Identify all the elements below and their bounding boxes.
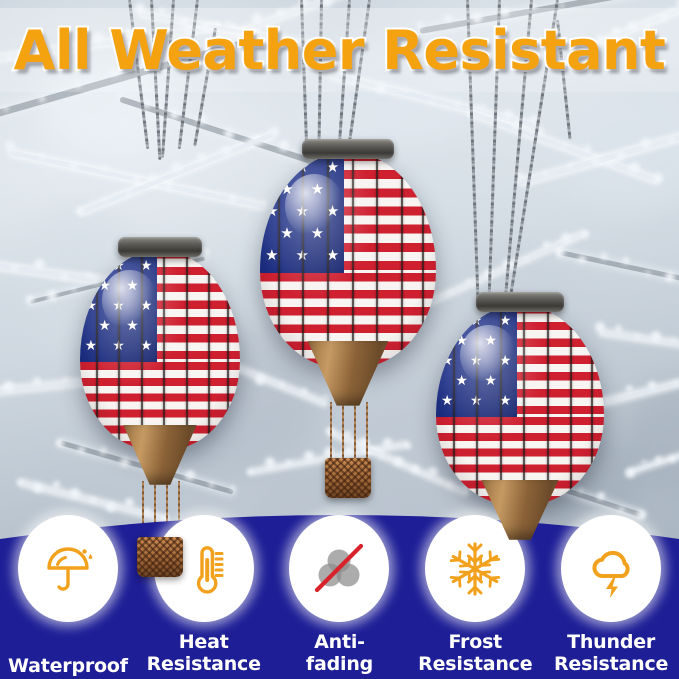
feature-icon-bubble: [289, 515, 389, 622]
cage-rib: [278, 152, 280, 368]
feature-label-line: Waterproof: [0, 655, 136, 677]
lantern-top-cap: [476, 292, 563, 312]
cage-rib: [401, 152, 403, 368]
cage-rib: [208, 250, 210, 450]
snowflake-icon: [446, 540, 504, 598]
thundercloud-icon: [583, 540, 639, 598]
feature-label-line: Anti-: [272, 631, 408, 653]
basket-chain: [330, 402, 332, 458]
feature-icon-bubble: [18, 515, 118, 622]
flag-globe: ★★★★★★★★★★★★★: [80, 250, 240, 450]
feature-label-line: Resistance: [136, 653, 272, 675]
feature-label-line: Frost: [407, 631, 543, 653]
product-feature-infographic: ★★★★★★★★★★★★★★★★★★★★★★★★★★★★★★★★★★★★★★★ …: [0, 0, 679, 679]
feature-item: ThunderResistance: [543, 509, 679, 679]
lantern-cone-base: [123, 425, 197, 485]
cage-rib: [352, 152, 354, 368]
cage-rib: [327, 152, 329, 368]
lantern-cone-base: [308, 341, 389, 406]
feature-label: ThunderResistance: [543, 631, 679, 675]
cage-rib: [500, 305, 502, 505]
cage-rib: [476, 305, 478, 505]
cage-rib: [227, 250, 229, 450]
cage-rib: [141, 250, 143, 450]
feature-label: FrostResistance: [407, 631, 543, 675]
thermometer-icon: [176, 540, 232, 598]
cage-rib: [422, 152, 424, 368]
feature-item: Waterproof: [0, 509, 136, 679]
feature-label-line: Thunder: [543, 631, 679, 653]
basket-chain: [366, 402, 368, 458]
feature-label-line: fading: [272, 653, 408, 675]
cage-rib: [96, 250, 98, 450]
cage-rib: [302, 152, 304, 368]
feature-panel: Waterproof HeatResistance Anti-fading Fr…: [0, 509, 679, 679]
feature-list: Waterproof HeatResistance Anti-fading Fr…: [0, 509, 679, 679]
feature-label: Waterproof: [0, 655, 136, 677]
feature-label: Anti-fading: [272, 631, 408, 675]
umbrella-raindrops-icon: [40, 540, 96, 598]
basket-chain: [354, 402, 356, 458]
cage-rib: [591, 305, 593, 505]
balloon-lantern: ★★★★★★★★★★★★★: [260, 152, 436, 518]
cage-rib: [547, 305, 549, 505]
flag-globe: ★★★★★★★★★★★★★: [260, 152, 436, 368]
feature-item: Anti-fading: [272, 509, 408, 679]
lantern-basket: [137, 537, 183, 577]
basket-chain: [342, 402, 344, 458]
page-title: All Weather Resistant: [0, 8, 679, 92]
lantern-top-cap: [302, 139, 394, 159]
cage-rib: [453, 305, 455, 505]
flag-globe: ★★★★★★★★★★★★★: [436, 305, 604, 505]
cage-rib: [376, 152, 378, 368]
lantern-top-cap: [118, 237, 201, 257]
feature-item: HeatResistance: [136, 509, 272, 679]
feature-icon-bubble: [561, 515, 661, 622]
anti-fading-icon: [311, 540, 367, 598]
feature-label: HeatResistance: [136, 631, 272, 675]
feature-label-line: Resistance: [543, 653, 679, 675]
cage-rib: [163, 250, 165, 450]
feature-label-line: Resistance: [407, 653, 543, 675]
cage-rib: [186, 250, 188, 450]
lantern-basket: [325, 458, 371, 498]
feature-label-line: Heat: [136, 631, 272, 653]
